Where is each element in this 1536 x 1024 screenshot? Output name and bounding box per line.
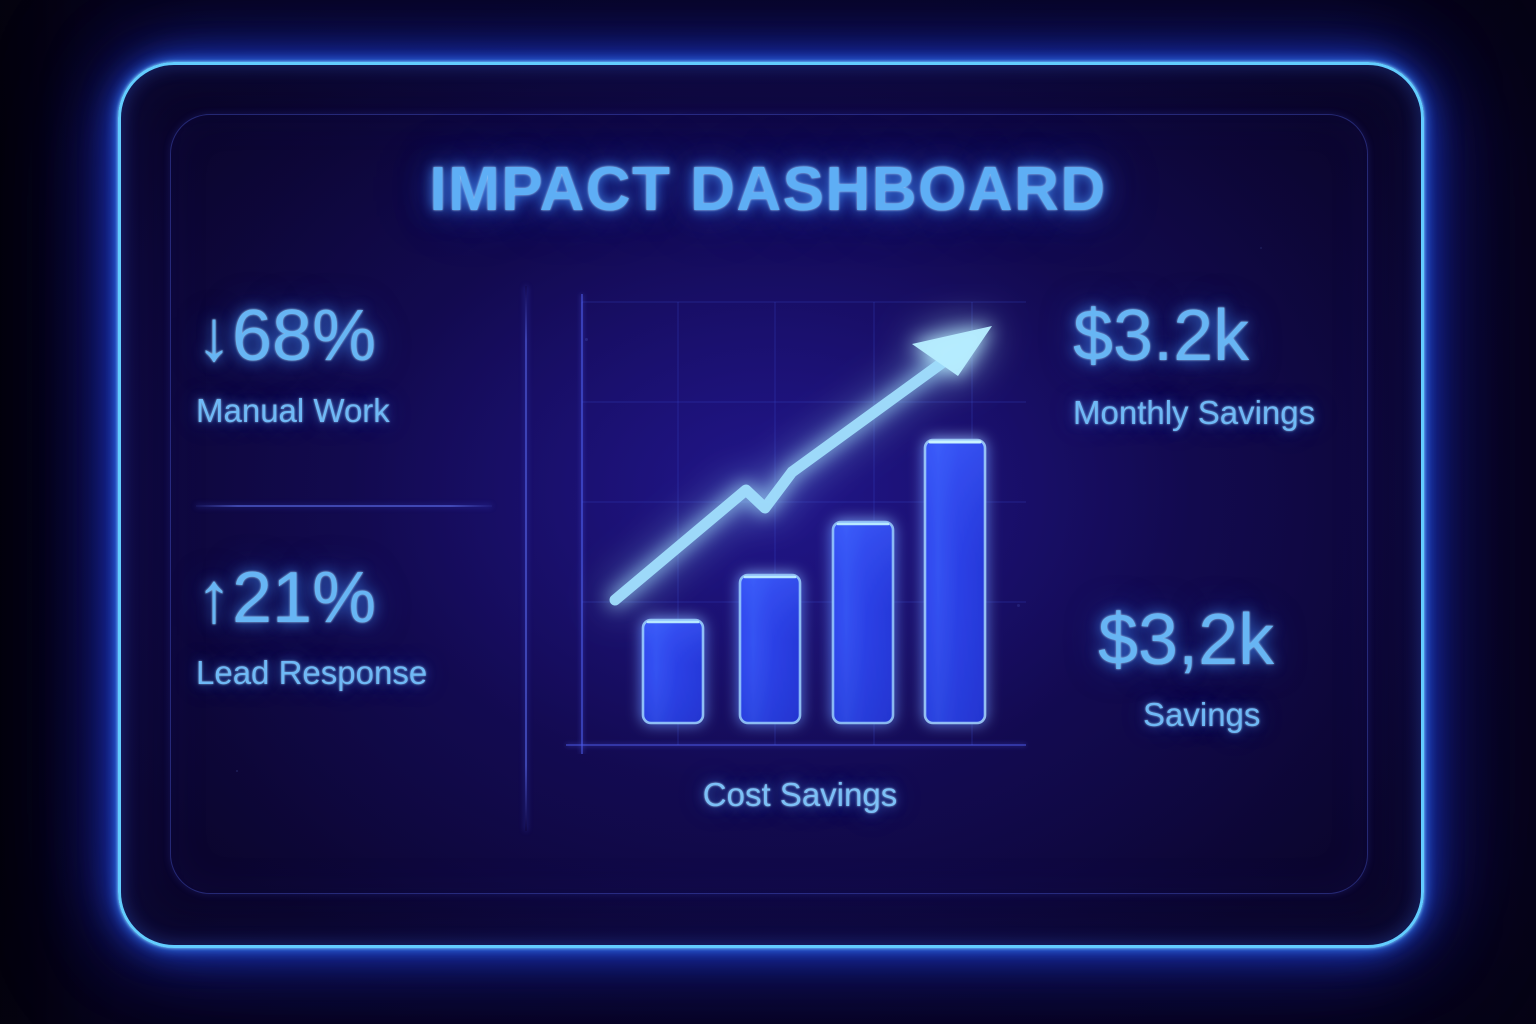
metric-monthly-savings-value: $3.2k bbox=[1073, 300, 1315, 372]
dashboard-content: IMPACT DASHBOARD ↓68% Manual Work ↑21% L… bbox=[0, 0, 1536, 1024]
column-divider-vertical bbox=[525, 286, 527, 831]
page-title: IMPACT DASHBOARD bbox=[0, 154, 1536, 225]
metric-monthly-savings-label: Monthly Savings bbox=[1073, 396, 1315, 429]
chart-bar bbox=[643, 620, 703, 723]
chart-bar bbox=[925, 440, 985, 723]
metric-lead-response: ↑21% Lead Response bbox=[196, 562, 427, 689]
dashboard-stage: IMPACT DASHBOARD ↓68% Manual Work ↑21% L… bbox=[0, 0, 1536, 1024]
metric-monthly-savings: $3.2k Monthly Savings bbox=[1073, 300, 1315, 429]
metric-lead-response-value: ↑21% bbox=[196, 562, 427, 634]
cost-savings-bar-chart bbox=[560, 284, 1040, 754]
chart-svg bbox=[560, 284, 1040, 754]
metric-lead-response-label: Lead Response bbox=[196, 656, 427, 689]
left-column-divider bbox=[196, 505, 492, 507]
metric-savings-label: Savings bbox=[1143, 698, 1274, 731]
metric-manual-work-label: Manual Work bbox=[196, 394, 390, 427]
chart-bar bbox=[833, 522, 893, 723]
metric-manual-work: ↓68% Manual Work bbox=[196, 300, 390, 427]
chart-caption: Cost Savings bbox=[560, 776, 1040, 814]
chart-bars bbox=[643, 440, 985, 723]
metric-savings-value: $3,2k bbox=[1098, 604, 1274, 676]
metric-manual-work-value: ↓68% bbox=[196, 300, 390, 372]
chart-bar bbox=[740, 575, 800, 723]
metric-savings: $3,2k Savings bbox=[1098, 604, 1274, 731]
